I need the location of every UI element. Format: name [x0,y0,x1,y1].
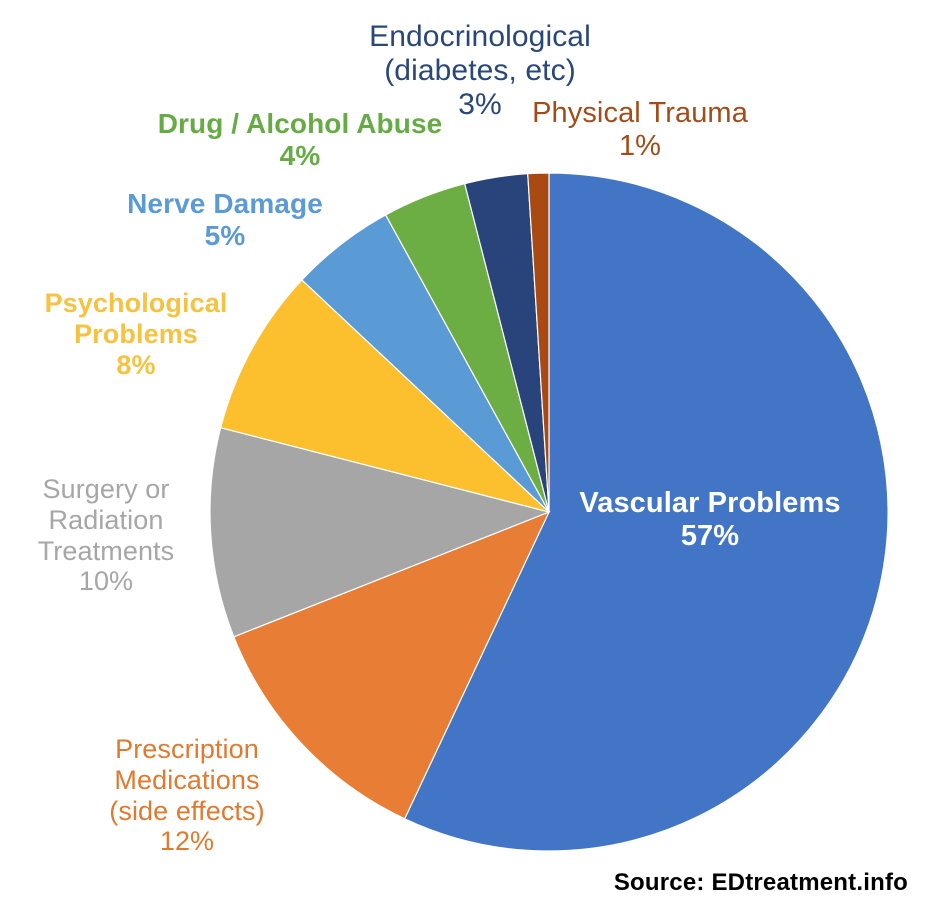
slice-label-prescription-medications: Prescription Medications (side effects) … [62,734,312,857]
slice-label-drug-alcohol-abuse: Drug / Alcohol Abuse 4% [120,108,480,172]
slice-label-psychological-problems: Psychological Problems 8% [20,288,252,380]
slice-label-physical-trauma: Physical Trauma 1% [480,97,800,163]
slice-label-surgery-radiation: Surgery or Radiation Treatments 10% [6,474,206,597]
slice-label-nerve-damage: Nerve Damage 5% [80,188,370,252]
pie-chart-figure: Endocrinological (diabetes, etc) 3% Phys… [0,0,930,920]
source-attribution: Source: EDtreatment.info [430,869,908,897]
slice-label-vascular-problems: Vascular Problems 57% [545,487,875,553]
